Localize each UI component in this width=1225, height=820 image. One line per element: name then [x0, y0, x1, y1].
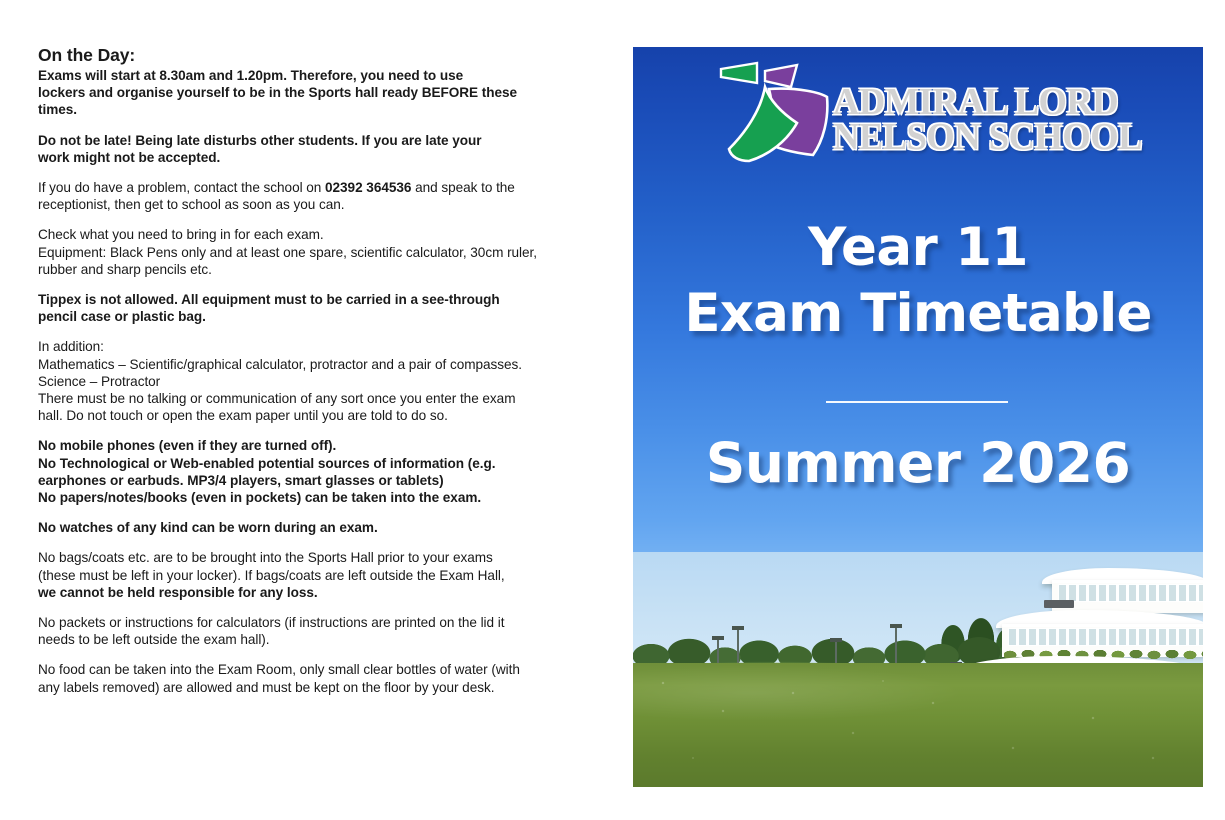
- title-divider: [826, 401, 1008, 403]
- instruction-line: earphones or earbuds. MP3/4 players, sma…: [38, 472, 590, 489]
- instruction-line: No bags/coats etc. are to be brought int…: [38, 549, 590, 566]
- instruction-line: Do not be late! Being late disturbs othe…: [38, 132, 590, 149]
- instruction-line: needs to be left outside the exam hall).: [38, 631, 590, 648]
- cover-title-line-2: Exam Timetable: [633, 281, 1203, 347]
- instruction-line: rubber and sharp pencils etc.: [38, 261, 590, 278]
- cover-term-label: Summer 2026: [633, 432, 1203, 494]
- spacer: [38, 213, 590, 226]
- spacer: [38, 506, 590, 519]
- instruction-line-emphasis: we cannot be held responsible for any lo…: [38, 584, 590, 601]
- instruction-block-calculator-packets: No packets or instructions for calculato…: [38, 614, 590, 648]
- sail-logo-icon: [717, 57, 835, 165]
- instruction-line: pencil case or plastic bag.: [38, 308, 590, 325]
- spacer: [38, 648, 590, 661]
- instruction-line: times.: [38, 101, 590, 118]
- instruction-line: Check what you need to bring in for each…: [38, 226, 590, 243]
- school-phone-number: 02392 364536: [325, 180, 411, 195]
- instruction-line: any labels removed) are allowed and must…: [38, 679, 590, 696]
- instruction-block-start-times: Exams will start at 8.30am and 1.20pm. T…: [38, 67, 590, 119]
- contact-text-post: and speak to the: [411, 180, 514, 195]
- contact-text-pre: If you do have a problem, contact the sc…: [38, 180, 325, 195]
- spacer: [38, 536, 590, 549]
- instruction-line: Tippex is not allowed. All equipment mus…: [38, 291, 590, 308]
- instruction-line: No mobile phones (even if they are turne…: [38, 437, 590, 454]
- instruction-line: There must be no talking or communicatio…: [38, 390, 590, 407]
- instruction-block-contact: If you do have a problem, contact the sc…: [38, 179, 590, 213]
- instruction-block-in-addition: In addition: Mathematics – Scientific/gr…: [38, 338, 590, 424]
- instruction-block-bags-coats: No bags/coats etc. are to be brought int…: [38, 549, 590, 601]
- wordmark-line-2: NELSON SCHOOL: [833, 120, 1179, 155]
- rooftop-unit: [1044, 600, 1074, 608]
- spacer: [38, 601, 590, 614]
- building-window-band: [1008, 628, 1203, 646]
- exam-instructions-column: On the Day: Exams will start at 8.30am a…: [38, 45, 590, 696]
- instruction-block-watches: No watches of any kind can be worn durin…: [38, 519, 590, 536]
- spacer: [38, 424, 590, 437]
- instruction-line: No papers/notes/books (even in pockets) …: [38, 489, 590, 506]
- instruction-line: receptionist, then get to school as soon…: [38, 196, 590, 213]
- instruction-line: Science – Protractor: [38, 373, 590, 390]
- instruction-line: No packets or instructions for calculato…: [38, 614, 590, 631]
- instruction-block-prohibited-devices: No mobile phones (even if they are turne…: [38, 437, 590, 506]
- cover-title-line-1: Year 11: [633, 215, 1203, 281]
- instruction-block-equipment: Check what you need to bring in for each…: [38, 226, 590, 278]
- instruction-line: No watches of any kind can be worn durin…: [38, 519, 590, 536]
- photo-grass-field: [633, 663, 1203, 787]
- instruction-line: No Technological or Web-enabled potentia…: [38, 455, 590, 472]
- school-logo: ADMIRAL LORD NELSON SCHOOL: [645, 57, 1193, 167]
- instruction-line: No food can be taken into the Exam Room,…: [38, 661, 590, 678]
- instruction-block-lateness: Do not be late! Being late disturbs othe…: [38, 132, 590, 166]
- spacer: [38, 166, 590, 179]
- flyer-page: On the Day: Exams will start at 8.30am a…: [0, 0, 1225, 820]
- page-title: On the Day:: [38, 45, 590, 66]
- school-photo: [633, 552, 1203, 787]
- wordmark-line-1: ADMIRAL LORD: [833, 85, 1179, 120]
- spacer: [38, 325, 590, 338]
- instruction-line: Exams will start at 8.30am and 1.20pm. T…: [38, 67, 590, 84]
- instruction-line: hall. Do not touch or open the exam pape…: [38, 407, 590, 424]
- instruction-line: (these must be left in your locker). If …: [38, 567, 590, 584]
- instruction-line: Equipment: Black Pens only and at least …: [38, 244, 590, 261]
- instruction-line: lockers and organise yourself to be in t…: [38, 84, 590, 101]
- building-window-band: [1058, 584, 1203, 602]
- school-wordmark: ADMIRAL LORD NELSON SCHOOL: [833, 85, 1179, 157]
- cover-panel: ADMIRAL LORD NELSON SCHOOL Year 11 Exam …: [633, 47, 1203, 787]
- instruction-line: In addition:: [38, 338, 590, 355]
- instruction-line: Mathematics – Scientific/graphical calcu…: [38, 356, 590, 373]
- instruction-line: If you do have a problem, contact the sc…: [38, 179, 590, 196]
- instruction-line: work might not be accepted.: [38, 149, 590, 166]
- instruction-block-tippex: Tippex is not allowed. All equipment mus…: [38, 291, 590, 325]
- spacer: [38, 278, 590, 291]
- cover-title: Year 11 Exam Timetable: [633, 215, 1203, 347]
- instruction-block-food-drink: No food can be taken into the Exam Room,…: [38, 661, 590, 695]
- spacer: [38, 119, 590, 132]
